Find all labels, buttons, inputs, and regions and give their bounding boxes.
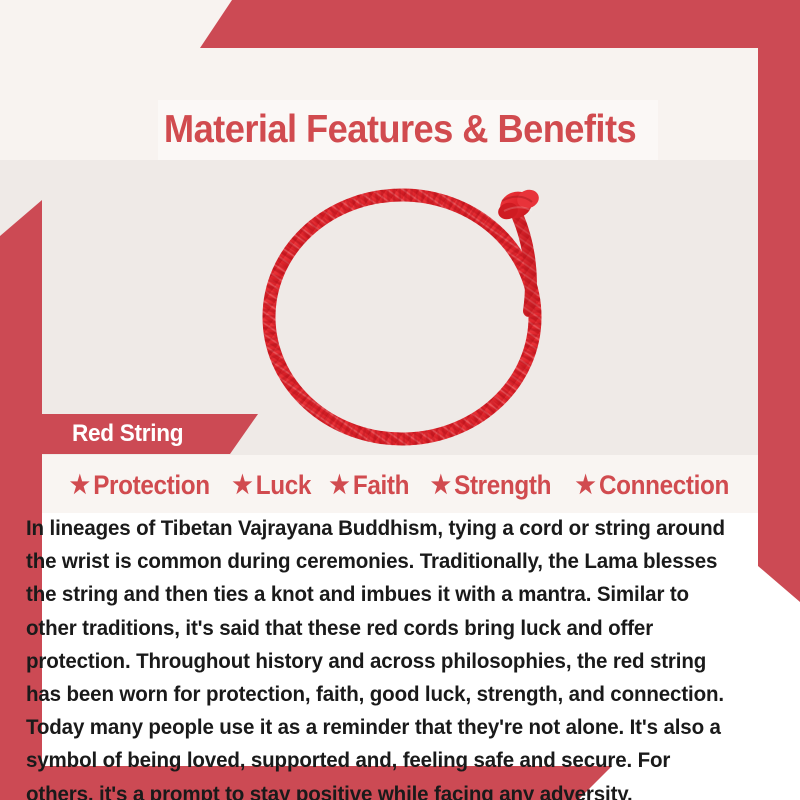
- feature-label: Connection: [599, 470, 729, 501]
- bracelet-knot: [496, 187, 541, 222]
- feature-label: Faith: [353, 470, 409, 501]
- feature-label: Protection: [93, 470, 210, 501]
- body-paragraph: In lineages of Tibetan Vajrayana Buddhis…: [26, 512, 735, 800]
- star-icon: ★: [232, 473, 252, 498]
- page-title: Material Features & Benefits: [28, 100, 772, 160]
- star-icon: ★: [576, 473, 596, 498]
- feature-item: ★ Connection: [573, 470, 732, 501]
- feature-item: ★ Protection: [67, 470, 212, 501]
- star-icon: ★: [70, 473, 90, 498]
- feature-label: Luck: [255, 470, 310, 501]
- ribbon-top-decoration: [200, 0, 800, 48]
- infographic-page: Material Features & Benefits: [0, 0, 800, 800]
- red-string-bracelet-illustration: [250, 165, 580, 465]
- feature-item: ★ Faith: [327, 470, 412, 501]
- feature-item: ★ Luck: [229, 470, 313, 501]
- ribbon-right-decoration: [758, 0, 800, 602]
- feature-label: Strength: [454, 470, 551, 501]
- product-label: Red String: [72, 414, 183, 454]
- feature-list: ★ Protection ★ Luck ★ Faith ★ Strength ★…: [0, 462, 800, 508]
- star-icon: ★: [430, 473, 450, 498]
- feature-item: ★ Strength: [428, 470, 554, 501]
- product-image: [250, 165, 580, 465]
- star-icon: ★: [329, 473, 349, 498]
